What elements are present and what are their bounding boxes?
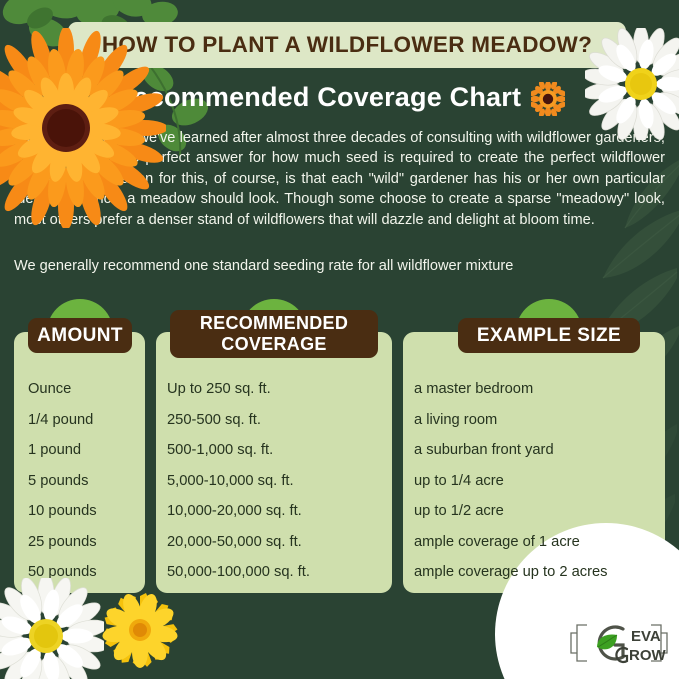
amount-column: Ounce 1/4 pound 1 pound 5 pounds 10 poun… [28, 374, 97, 588]
page-title: HOW TO PLANT A WILDFLOWER MEADOW? [102, 32, 592, 58]
infographic-canvas: HOW TO PLANT A WILDFLOWER MEADOW? Recomm… [0, 0, 679, 679]
table-row: 5,000-10,000 sq. ft. [167, 466, 310, 497]
table-row: 25 pounds [28, 527, 97, 558]
table-row: 500-1,000 sq. ft. [167, 435, 310, 466]
white-daisy-flower-bottom [0, 578, 104, 679]
table-row: 10,000-20,000 sq. ft. [167, 496, 310, 527]
logo-text-row: ROW [629, 647, 667, 664]
table-row: Up to 250 sq. ft. [167, 374, 310, 405]
amount-header-label: AMOUNT [37, 325, 123, 347]
intro-paragraph: If there's one thing we've learned after… [14, 128, 665, 230]
table-row: a living room [414, 405, 608, 436]
table-row: 50,000-100,000 sq. ft. [167, 557, 310, 588]
eva-grow-logo[interactable]: EVA ROW [567, 615, 671, 671]
table-row: 50 pounds [28, 557, 97, 588]
example-header-label: EXAMPLE SIZE [477, 325, 621, 347]
yellow-coreopsis-flower [98, 588, 182, 672]
table-row: a suburban front yard [414, 435, 608, 466]
seeding-rate-note: We generally recommend one standard seed… [14, 256, 665, 276]
table-row: up to 1/2 acre [414, 496, 608, 527]
table-row: up to 1/4 acre [414, 466, 608, 497]
logo-text-eva: EVA [631, 628, 661, 645]
coverage-column: Up to 250 sq. ft. 250-500 sq. ft. 500-1,… [167, 374, 310, 588]
coverage-header-label-line2: COVERAGE [200, 334, 348, 355]
table-row: ample coverage of 1 acre [414, 527, 608, 558]
table-row: a master bedroom [414, 374, 608, 405]
example-header-badge: EXAMPLE SIZE [458, 318, 640, 353]
table-row: 10 pounds [28, 496, 97, 527]
page-subtitle: Recommended Coverage Chart [114, 82, 521, 113]
title-banner: HOW TO PLANT A WILDFLOWER MEADOW? [68, 22, 626, 68]
amount-header-badge: AMOUNT [28, 318, 132, 353]
table-row: 250-500 sq. ft. [167, 405, 310, 436]
table-row: 1/4 pound [28, 405, 97, 436]
coverage-header-badge: RECOMMENDED COVERAGE [170, 310, 378, 358]
small-orange-flower-icon [531, 82, 565, 116]
table-row: 5 pounds [28, 466, 97, 497]
table-row: ample coverage up to 2 acres [414, 557, 608, 588]
subtitle-row: Recommended Coverage Chart [0, 75, 679, 119]
coverage-header-label-line1: RECOMMENDED [200, 313, 348, 334]
table-row: 1 pound [28, 435, 97, 466]
table-row: Ounce [28, 374, 97, 405]
example-column: a master bedroom a living room a suburba… [414, 374, 608, 588]
table-row: 20,000-50,000 sq. ft. [167, 527, 310, 558]
